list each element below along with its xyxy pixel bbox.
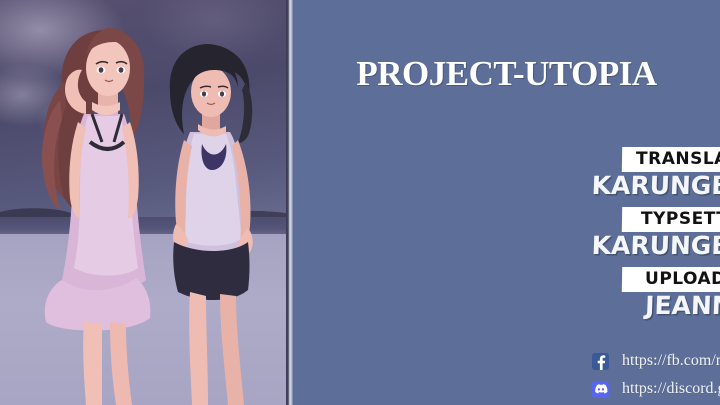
page-title: PROJECT-UTOPIA bbox=[293, 54, 720, 94]
panel-divider bbox=[286, 0, 293, 405]
facebook-icon bbox=[592, 353, 609, 370]
artwork-panel bbox=[0, 0, 293, 405]
role-label-uploader: UPLOADER bbox=[621, 267, 720, 292]
social-link-discord[interactable]: https://discord.gg/ZBPMCGu bbox=[592, 377, 720, 401]
role-label-translator: TRANSLATOR bbox=[621, 147, 720, 172]
staff-row-uploader: UPLOADER JEANNE bbox=[590, 267, 720, 320]
figure-woman-right bbox=[150, 40, 275, 405]
staff-name-uploader: JEANNE bbox=[590, 292, 720, 320]
role-label-uploader-text: UPLOADER bbox=[644, 268, 720, 290]
role-label-typesetter-text: TYPSETTER bbox=[641, 208, 720, 230]
credits-panel: PROJECT-UTOPIA TRANSLATOR KARUNGBALAP TY… bbox=[293, 0, 720, 405]
facebook-url[interactable]: https://fb.com/mangasusu.us bbox=[622, 352, 720, 370]
social-links: https://fb.com/mangasusu.us https://disc… bbox=[592, 349, 720, 405]
discord-url[interactable]: https://discord.gg/ZBPMCGu bbox=[622, 380, 720, 398]
discord-icon bbox=[592, 381, 609, 398]
role-label-translator-text: TRANSLATOR bbox=[636, 148, 720, 170]
social-link-facebook[interactable]: https://fb.com/mangasusu.us bbox=[592, 349, 720, 373]
staff-name-typesetter: KARUNGBALAP bbox=[590, 232, 720, 260]
staff-name-translator: KARUNGBALAP bbox=[590, 172, 720, 200]
staff-row-typesetter: TYPSETTER KARUNGBALAP bbox=[590, 207, 720, 260]
role-label-typesetter: TYPSETTER bbox=[621, 207, 720, 232]
credits-page: PROJECT-UTOPIA TRANSLATOR KARUNGBALAP TY… bbox=[0, 0, 720, 405]
staff-row-translator: TRANSLATOR KARUNGBALAP bbox=[590, 147, 720, 200]
